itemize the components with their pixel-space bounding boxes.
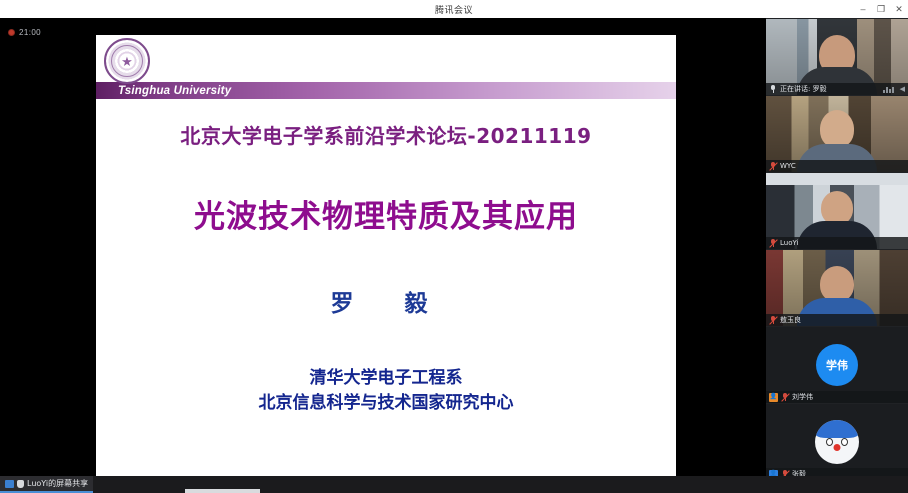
shared-screen-stage[interactable]: 21:00 Tsinghua University 北京大学电子学系前沿学术论坛… [0,18,766,476]
person-face [820,110,854,148]
tile-footer: WYC [766,160,908,172]
recording-dot-icon [8,29,15,36]
taskbar-item-label: LuoYi的屏幕共享 [27,478,88,489]
presentation-slide: Tsinghua University 北京大学电子学系前沿学术论坛-20211… [96,35,676,490]
person-face [820,266,854,302]
affiliation-line-2: 北京信息科学与技术国家研究中心 [259,391,514,416]
tile-footer: LuoYi [766,237,908,249]
participant-tile[interactable]: 👤 张毅 [766,404,908,480]
person-icon [17,480,24,488]
close-button[interactable]: ✕ [890,0,908,18]
slide-affiliation: 清华大学电子工程系 北京信息科学与技术国家研究中心 [259,366,514,415]
participant-tile[interactable]: 敖玉良 [766,250,908,326]
microphone-muted-icon [769,162,777,170]
affiliation-line-1: 清华大学电子工程系 [259,366,514,391]
taskbar-highlight-strip [185,489,260,493]
participant-name: 刘学伟 [792,392,813,402]
slide-speaker-name: 罗 毅 [331,284,442,318]
minimize-button[interactable]: – [854,0,872,18]
taskbar: LuoYi的屏幕共享 [0,476,908,493]
tencent-meeting-window: 腾讯会议 – ❐ ✕ 21:00 Tsinghua Univ [0,0,908,493]
recording-timer: 21:00 [19,28,41,37]
microphone-icon [769,85,777,93]
tile-footer: 正在讲话: 罗毅 ◀ [766,83,908,95]
participant-name: WYC [780,162,796,170]
maximize-button[interactable]: ❐ [872,0,890,18]
window-controls: – ❐ ✕ [854,0,908,18]
doraemon-avatar-icon [815,420,859,464]
meeting-body: 21:00 Tsinghua University 北京大学电子学系前沿学术论坛… [0,18,908,476]
slide-forum-title: 北京大学电子学系前沿学术论坛-20211119 [180,120,591,149]
slide-main-title: 光波技术物理特质及其应用 [194,191,578,236]
collapse-arrow-icon[interactable]: ◀ [900,86,905,93]
slide-header [96,35,676,82]
participant-name: LuoYi [780,239,798,247]
slide-brand-bar: Tsinghua University [96,82,676,99]
tile-footer: 👤 刘学伟 [766,391,908,403]
seal-inner-ring-icon [111,45,143,77]
brand-bar-label: Tsinghua University [118,85,231,97]
title-bar: 腾讯会议 – ❐ ✕ [0,0,908,18]
avatar-eye-left-icon [826,438,833,446]
participant-tile[interactable]: LuoYi [766,173,908,249]
participant-tile[interactable]: 学伟 👤 刘学伟 [766,327,908,403]
slide-content: 北京大学电子学系前沿学术论坛-20211119 光波技术物理特质及其应用 罗 毅… [96,99,676,490]
participant-tile[interactable]: 正在讲话: 罗毅 ◀ [766,19,908,95]
microphone-muted-icon [769,316,777,324]
participant-name: 敖玉良 [780,315,801,325]
microphone-muted-icon [769,239,777,247]
audio-level-icon [883,85,894,93]
microphone-muted-icon [781,393,789,401]
host-badge-icon: 👤 [769,393,778,402]
participant-tile[interactable]: WYC [766,96,908,172]
person-face [821,191,853,225]
avatar-eye-right-icon [841,438,848,446]
recording-indicator: 21:00 [8,28,41,37]
tsinghua-seal-icon [104,38,150,84]
avatar: 学伟 [816,344,858,386]
window-title: 腾讯会议 [435,3,473,16]
monitor-icon [5,480,14,488]
participant-video-strip[interactable]: 正在讲话: 罗毅 ◀ WYC [766,18,908,476]
participant-name: 正在讲话: 罗毅 [780,84,827,94]
tile-footer: 敖玉良 [766,314,908,326]
taskbar-item-screen-share[interactable]: LuoYi的屏幕共享 [0,476,93,493]
